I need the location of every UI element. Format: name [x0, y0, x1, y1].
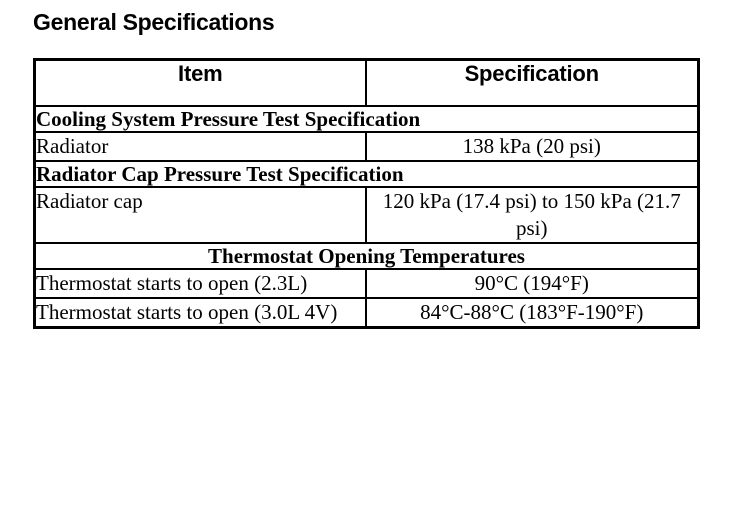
row-item-thermostat-30l-4v: Thermostat starts to open (3.0L 4V): [35, 298, 366, 328]
section-header-cooling-system-pressure-test: Cooling System Pressure Test Specificati…: [35, 106, 699, 132]
row-spec-radiator-cap: 120 kPa (17.4 psi) to 150 kPa (21.7 psi): [366, 187, 699, 243]
table-row: Radiator 138 kPa (20 psi): [35, 132, 699, 161]
row-item-radiator-cap: Radiator cap: [35, 187, 366, 243]
row-item-thermostat-23l: Thermostat starts to open (2.3L): [35, 269, 366, 298]
specifications-table: Item Specification Cooling System Pressu…: [33, 58, 700, 329]
column-header-item: Item: [35, 60, 366, 107]
row-item-radiator: Radiator: [35, 132, 366, 161]
table-row: Thermostat starts to open (2.3L) 90°C (1…: [35, 269, 699, 298]
table-section-row: Radiator Cap Pressure Test Specification: [35, 161, 699, 187]
table-header-row: Item Specification: [35, 60, 699, 107]
table-row: Thermostat starts to open (3.0L 4V) 84°C…: [35, 298, 699, 328]
row-spec-radiator: 138 kPa (20 psi): [366, 132, 699, 161]
table-row: Radiator cap 120 kPa (17.4 psi) to 150 k…: [35, 187, 699, 243]
section-header-thermostat-opening-temperatures: Thermostat Opening Temperatures: [35, 243, 699, 269]
row-spec-thermostat-23l: 90°C (194°F): [366, 269, 699, 298]
column-header-specification: Specification: [366, 60, 699, 107]
table-section-row: Cooling System Pressure Test Specificati…: [35, 106, 699, 132]
section-header-radiator-cap-pressure-test: Radiator Cap Pressure Test Specification: [35, 161, 699, 187]
table-section-row: Thermostat Opening Temperatures: [35, 243, 699, 269]
row-spec-thermostat-30l-4v: 84°C-88°C (183°F-190°F): [366, 298, 699, 328]
specifications-table-container: Item Specification Cooling System Pressu…: [33, 58, 697, 329]
page-title: General Specifications: [33, 8, 274, 36]
